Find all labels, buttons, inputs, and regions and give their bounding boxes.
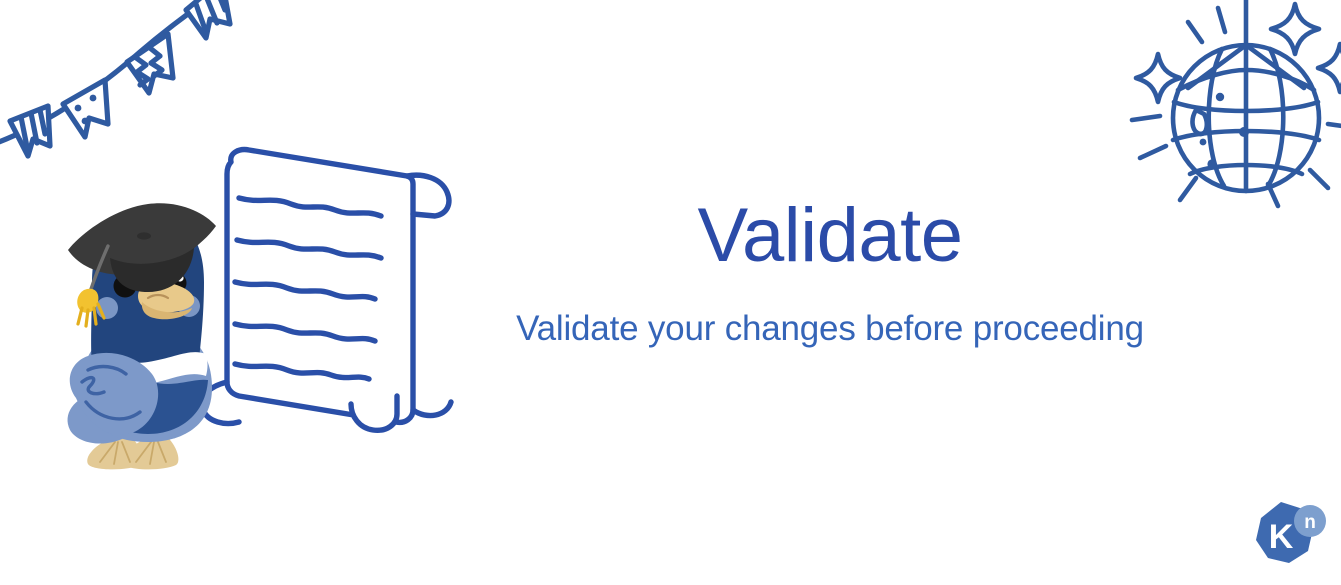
graduate-bird-mascot [52,186,238,474]
bunting-decoration [0,0,240,191]
certificate-scroll [175,138,465,450]
logo-badge-letter: n [1304,512,1316,533]
slide-canvas: Validate Validate your changes before pr… [0,0,1341,585]
brand-logo[interactable]: K n [1248,500,1330,576]
hero-text-block: Validate Validate your changes before pr… [480,196,1180,349]
page-title: Validate [480,196,1180,276]
page-subtitle: Validate your changes before proceeding [480,309,1180,349]
logo-mark-letter: K [1269,518,1294,556]
